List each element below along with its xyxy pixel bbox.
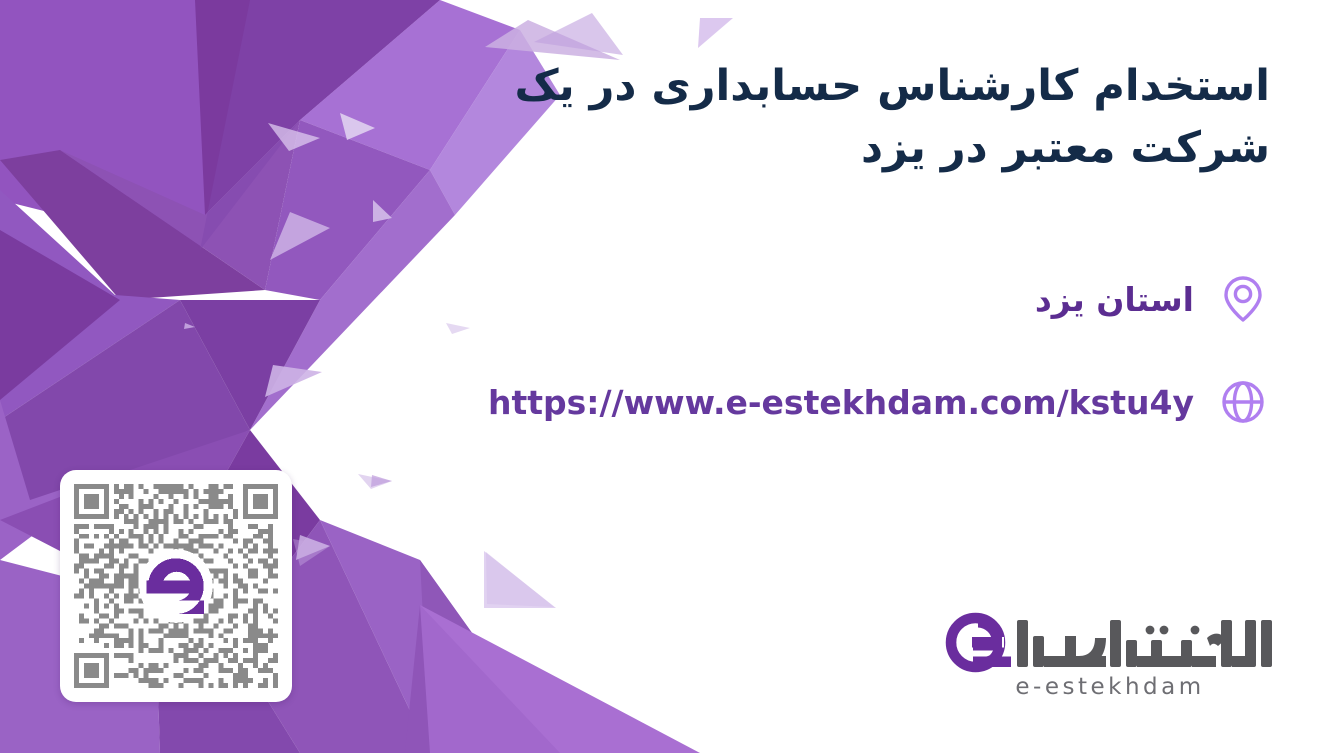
logo-e-icon bbox=[951, 618, 1011, 668]
url-row[interactable]: https://www.e-estekhdam.com/kstu4y bbox=[488, 375, 1270, 429]
brand-logo: e-estekhdam bbox=[945, 612, 1275, 712]
url-label[interactable]: https://www.e-estekhdam.com/kstu4y bbox=[488, 383, 1194, 422]
qr-code-image[interactable] bbox=[74, 484, 278, 688]
card-content: استخدام کارشناس حسابداری در یک شرکت معتب… bbox=[0, 0, 1340, 753]
location-row: استان یزد bbox=[1035, 272, 1270, 326]
brand-logo-subtitle: e-estekhdam bbox=[945, 674, 1275, 700]
brand-logo-mark bbox=[945, 612, 1275, 674]
qr-center-logo bbox=[139, 549, 213, 623]
title-block: استخدام کارشناس حسابداری در یک شرکت معتب… bbox=[390, 55, 1270, 180]
job-share-card: استخدام کارشناس حسابداری در یک شرکت معتب… bbox=[0, 0, 1340, 753]
map-pin-icon bbox=[1216, 272, 1270, 326]
page-title: استخدام کارشناس حسابداری در یک شرکت معتب… bbox=[390, 55, 1270, 180]
location-label: استان یزد bbox=[1035, 280, 1194, 319]
logo-wordmark-fa bbox=[1017, 620, 1272, 667]
qr-code-card[interactable] bbox=[60, 470, 292, 702]
globe-icon bbox=[1216, 375, 1270, 429]
